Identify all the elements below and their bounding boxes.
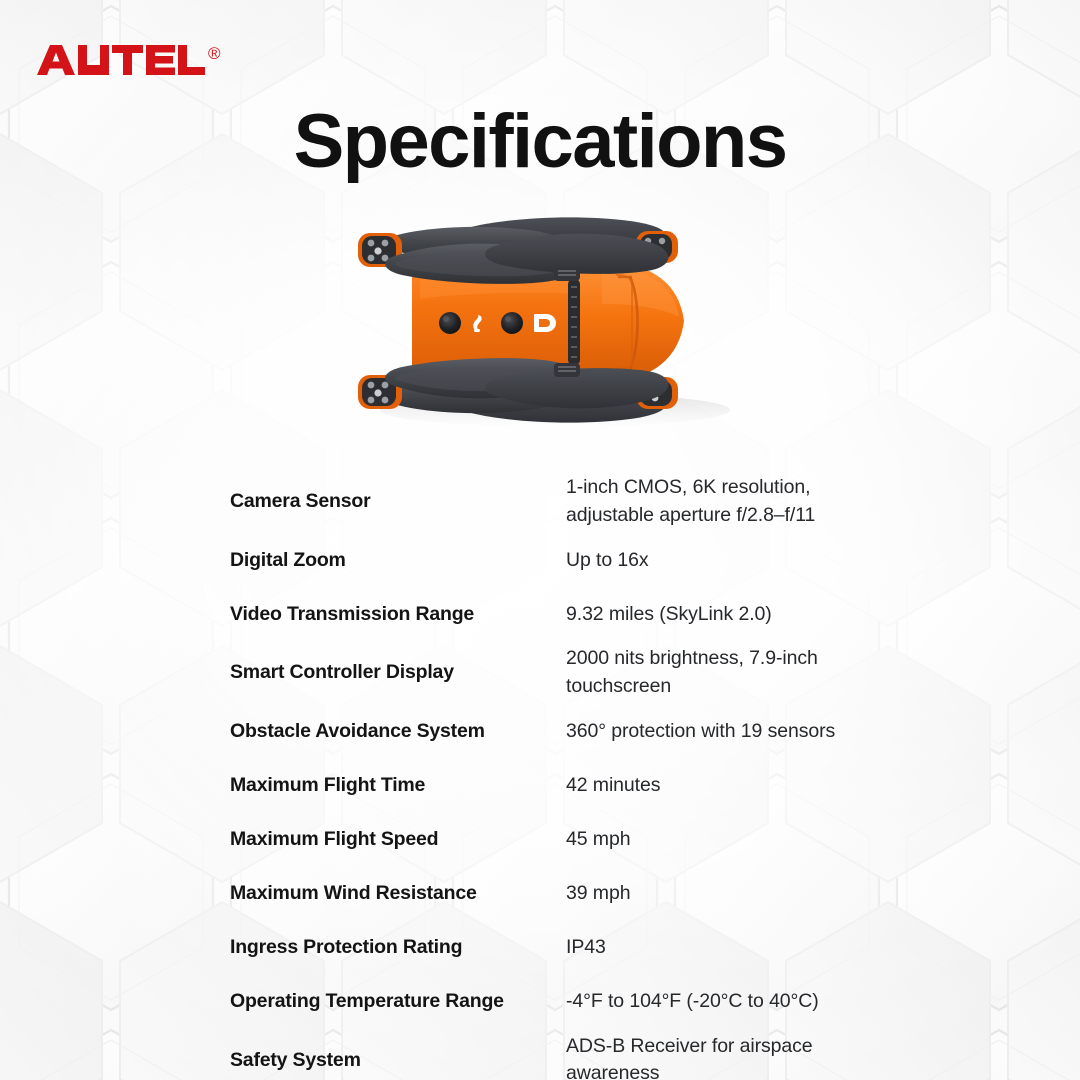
spec-value: 39 mph	[566, 880, 950, 908]
table-row: Maximum Wind Resistance 39 mph	[230, 867, 950, 921]
spec-value-line: ADS-B Receiver for airspace	[566, 1033, 950, 1061]
spec-value-line: -4°F to 104°F (-20°C to 40°C)	[566, 988, 950, 1016]
specifications-poster: ® Specifications	[0, 0, 1080, 1080]
spec-label: Ingress Protection Rating	[230, 935, 566, 960]
spec-label: Maximum Flight Speed	[230, 827, 566, 852]
spec-value: IP43	[566, 934, 950, 962]
table-row: Camera Sensor 1-inch CMOS, 6K resolution…	[230, 470, 950, 533]
page-title: Specifications	[0, 104, 1080, 180]
table-row: Operating Temperature Range -4°F to 104°…	[230, 975, 950, 1029]
spec-value: ADS-B Receiver for airspace awareness	[566, 1033, 950, 1080]
spec-value-line: 1-inch CMOS, 6K resolution,	[566, 474, 950, 502]
spec-value-line: 45 mph	[566, 826, 950, 854]
spec-label: Camera Sensor	[230, 489, 566, 514]
spec-value-line: 39 mph	[566, 880, 950, 908]
spec-label: Maximum Wind Resistance	[230, 881, 566, 906]
spec-value: 45 mph	[566, 826, 950, 854]
autel-wordmark-icon	[36, 44, 206, 76]
table-row: Digital Zoom Up to 16x	[230, 533, 950, 587]
spec-value-line: Up to 16x	[566, 547, 950, 575]
table-row: Maximum Flight Time 42 minutes	[230, 759, 950, 813]
spec-label: Operating Temperature Range	[230, 989, 566, 1014]
spec-value: 2000 nits brightness, 7.9-inch touchscre…	[566, 645, 950, 700]
table-row: Video Transmission Range 9.32 miles (Sky…	[230, 587, 950, 641]
spec-value: 360° protection with 19 sensors	[566, 718, 950, 746]
spec-value: -4°F to 104°F (-20°C to 40°C)	[566, 988, 950, 1016]
spec-value: 1-inch CMOS, 6K resolution, adjustable a…	[566, 474, 950, 529]
table-row: Maximum Flight Speed 45 mph	[230, 813, 950, 867]
spec-value: Up to 16x	[566, 547, 950, 575]
spec-value-line: 360° protection with 19 sensors	[566, 718, 950, 746]
spec-label: Obstacle Avoidance System	[230, 719, 566, 744]
spec-value-line: awareness	[566, 1060, 950, 1080]
registered-trademark-symbol: ®	[208, 45, 221, 62]
table-row: Ingress Protection Rating IP43	[230, 921, 950, 975]
spec-label: Smart Controller Display	[230, 660, 566, 685]
table-row: Obstacle Avoidance System 360° protectio…	[230, 705, 950, 759]
specifications-table: Camera Sensor 1-inch CMOS, 6K resolution…	[230, 470, 950, 1080]
spec-label: Maximum Flight Time	[230, 773, 566, 798]
spec-value-line: adjustable aperture f/2.8–f/11	[566, 502, 950, 530]
drone-product-image	[340, 205, 760, 440]
spec-value-line: touchscreen	[566, 673, 950, 701]
spec-value-line: 9.32 miles (SkyLink 2.0)	[566, 601, 950, 629]
spec-value: 42 minutes	[566, 772, 950, 800]
spec-value-line: 42 minutes	[566, 772, 950, 800]
spec-label: Digital Zoom	[230, 548, 566, 573]
spec-value-line: IP43	[566, 934, 950, 962]
spec-label: Safety System	[230, 1048, 566, 1073]
table-row: Safety System ADS-B Receiver for airspac…	[230, 1029, 950, 1080]
spec-value: 9.32 miles (SkyLink 2.0)	[566, 601, 950, 629]
autel-logo: ®	[36, 44, 221, 76]
spec-value-line: 2000 nits brightness, 7.9-inch	[566, 645, 950, 673]
table-row: Smart Controller Display 2000 nits brigh…	[230, 641, 950, 704]
spec-label: Video Transmission Range	[230, 602, 566, 627]
